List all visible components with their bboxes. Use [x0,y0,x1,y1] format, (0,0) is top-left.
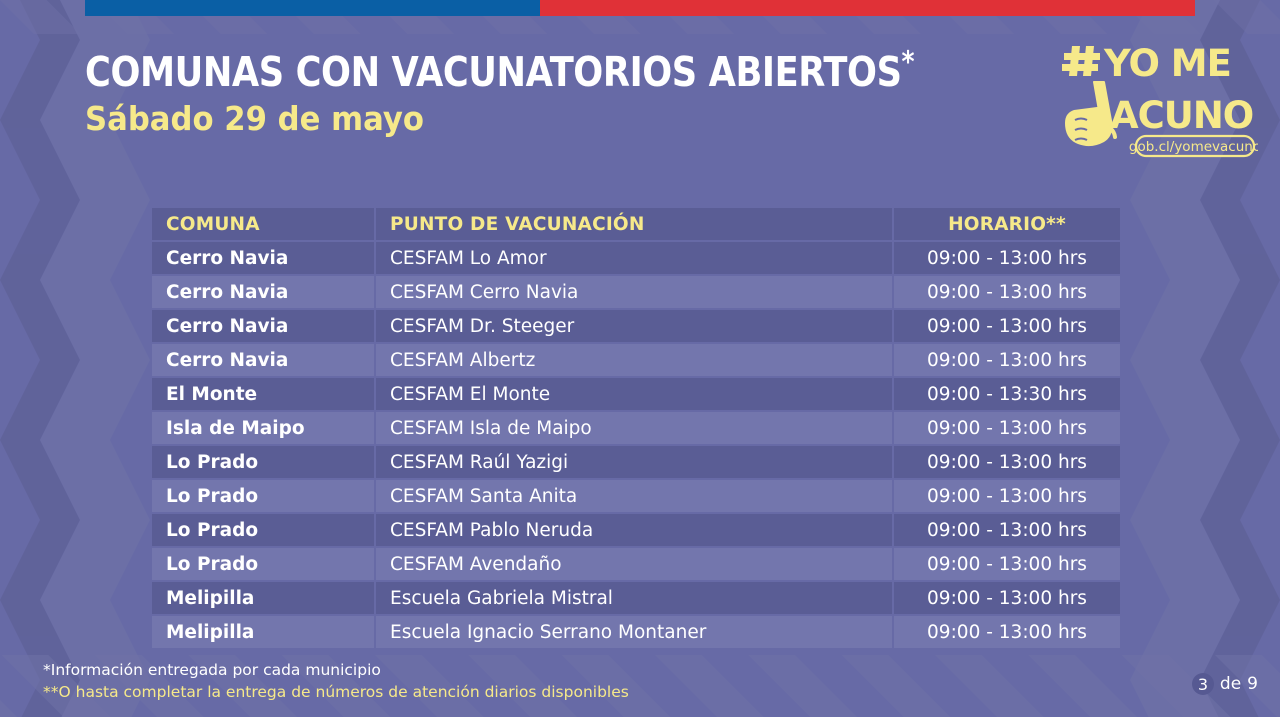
yomevacuno-logo: YO ME ACUNO gob.cl/yomevacuno [1058,32,1258,162]
table-row: Cerro NaviaCESFAM Dr. Steeger09:00 - 13:… [152,310,1120,342]
table-row: Cerro NaviaCESFAM Albertz09:00 - 13:00 h… [152,344,1120,376]
cell-comuna: Lo Prado [152,548,374,580]
cell-punto-vacunacion: Escuela Gabriela Mistral [376,582,892,614]
cell-comuna: Lo Prado [152,446,374,478]
table-row: Lo PradoCESFAM Pablo Neruda09:00 - 13:00… [152,514,1120,546]
cell-horario: 09:00 - 13:00 hrs [894,446,1120,478]
table-row: Cerro NaviaCESFAM Cerro Navia09:00 - 13:… [152,276,1120,308]
page-title: COMUNAS CON VACUNATORIOS ABIERTOS* [85,52,914,93]
page-title-asterisk: * [902,44,915,78]
footnotes: *Información entregada por cada municipi… [43,659,629,703]
cell-horario: 09:00 - 13:00 hrs [894,276,1120,308]
table-row: Lo PradoCESFAM Santa Anita09:00 - 13:00 … [152,480,1120,512]
topbar-left-spacer [0,0,85,16]
cell-comuna: Cerro Navia [152,242,374,274]
table-body: Cerro NaviaCESFAM Lo Amor09:00 - 13:00 h… [152,242,1120,648]
table-row: MelipillaEscuela Gabriela Mistral09:00 -… [152,582,1120,614]
topbar-blue-segment [85,0,540,16]
page-header: COMUNAS CON VACUNATORIOS ABIERTOS* Sábad… [85,52,1049,137]
topbar-red-segment [540,0,1195,16]
cell-horario: 09:00 - 13:00 hrs [894,310,1120,342]
cell-comuna: Melipilla [152,616,374,648]
vaccination-points-table: COMUNA PUNTO DE VACUNACIÓN HORARIO** Cer… [150,206,1122,650]
cell-punto-vacunacion: CESFAM Pablo Neruda [376,514,892,546]
cell-comuna: Melipilla [152,582,374,614]
cell-punto-vacunacion: CESFAM Dr. Steeger [376,310,892,342]
table-row: MelipillaEscuela Ignacio Serrano Montane… [152,616,1120,648]
logo-hash-icon [1062,46,1100,76]
cell-horario: 09:00 - 13:00 hrs [894,412,1120,444]
table-row: Isla de MaipoCESFAM Isla de Maipo09:00 -… [152,412,1120,444]
logo-url-text: gob.cl/yomevacuno [1129,139,1258,155]
cell-comuna: Lo Prado [152,480,374,512]
table-row: Cerro NaviaCESFAM Lo Amor09:00 - 13:00 h… [152,242,1120,274]
column-header-punto: PUNTO DE VACUNACIÓN [376,208,892,240]
topbar-right-spacer [1195,0,1280,16]
table-header: COMUNA PUNTO DE VACUNACIÓN HORARIO** [152,208,1120,240]
cell-horario: 09:00 - 13:30 hrs [894,378,1120,410]
cell-comuna: Isla de Maipo [152,412,374,444]
cell-punto-vacunacion: CESFAM Albertz [376,344,892,376]
cell-horario: 09:00 - 13:00 hrs [894,582,1120,614]
cell-punto-vacunacion: Escuela Ignacio Serrano Montaner [376,616,892,648]
cell-comuna: Lo Prado [152,514,374,546]
cell-comuna: Cerro Navia [152,344,374,376]
page-title-text: COMUNAS CON VACUNATORIOS ABIERTOS [85,48,902,96]
table-header-row: COMUNA PUNTO DE VACUNACIÓN HORARIO** [152,208,1120,240]
logo-line1: YO ME [1103,42,1231,85]
cell-punto-vacunacion: CESFAM Cerro Navia [376,276,892,308]
cell-punto-vacunacion: CESFAM El Monte [376,378,892,410]
cell-horario: 09:00 - 13:00 hrs [894,480,1120,512]
cell-comuna: Cerro Navia [152,310,374,342]
footnote-municipio: *Información entregada por cada municipi… [43,659,629,681]
cell-comuna: Cerro Navia [152,276,374,308]
column-header-horario: HORARIO** [894,208,1120,240]
logo-graphic: YO ME ACUNO gob.cl/yomevacuno [1058,32,1258,164]
page-indicator: 3 de 9 [1192,673,1258,695]
footnote-horario: **O hasta completar la entrega de número… [43,681,629,703]
column-header-comuna: COMUNA [152,208,374,240]
top-color-bar [0,0,1280,16]
cell-horario: 09:00 - 13:00 hrs [894,344,1120,376]
page-separator: de [1220,674,1241,694]
hand-peace-icon [1065,82,1115,146]
cell-punto-vacunacion: CESFAM Lo Amor [376,242,892,274]
table-row: El MonteCESFAM El Monte09:00 - 13:30 hrs [152,378,1120,410]
cell-horario: 09:00 - 13:00 hrs [894,616,1120,648]
cell-comuna: El Monte [152,378,374,410]
page-subtitle: Sábado 29 de mayo [85,102,982,137]
cell-punto-vacunacion: CESFAM Isla de Maipo [376,412,892,444]
page-total: 9 [1247,674,1258,694]
cell-punto-vacunacion: CESFAM Raúl Yazigi [376,446,892,478]
cell-horario: 09:00 - 13:00 hrs [894,548,1120,580]
cell-horario: 09:00 - 13:00 hrs [894,242,1120,274]
logo-line2: ACUNO [1110,94,1253,137]
logo-url-badge: gob.cl/yomevacuno [1129,136,1258,156]
table-row: Lo PradoCESFAM Avendaño09:00 - 13:00 hrs [152,548,1120,580]
cell-punto-vacunacion: CESFAM Avendaño [376,548,892,580]
cell-horario: 09:00 - 13:00 hrs [894,514,1120,546]
cell-punto-vacunacion: CESFAM Santa Anita [376,480,892,512]
table-row: Lo PradoCESFAM Raúl Yazigi09:00 - 13:00 … [152,446,1120,478]
page-current-badge: 3 [1192,673,1214,695]
